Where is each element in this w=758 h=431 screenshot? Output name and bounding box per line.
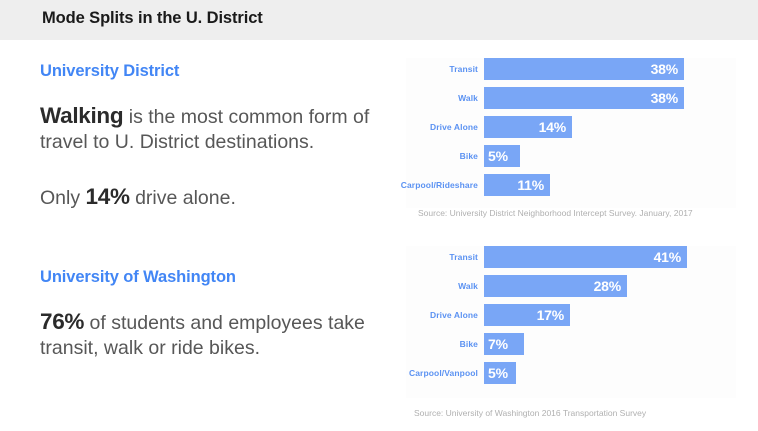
paragraph-uw-stat: 76% of students and employees take trans… bbox=[40, 307, 380, 362]
bar: 14% bbox=[484, 116, 572, 138]
left-text-column: University District Walking is the most … bbox=[40, 62, 380, 211]
bar-value-label: 38% bbox=[651, 91, 678, 105]
paragraph-uw-stat-rest: of students and employees take transit, … bbox=[40, 312, 365, 359]
chart-university-of-washington: Transit41%Walk28%Drive Alone17%Bike7%Car… bbox=[406, 246, 736, 398]
bar-category-label: Walk bbox=[406, 87, 478, 109]
paragraph-walking-lead: Walking bbox=[40, 103, 123, 128]
bar-track: 41% bbox=[484, 246, 736, 268]
bar-value-label: 17% bbox=[537, 308, 564, 322]
paragraph-uw-stat-lead: 76% bbox=[40, 309, 84, 334]
bar-track: 38% bbox=[484, 58, 736, 80]
bar-track: 11% bbox=[484, 174, 736, 196]
paragraph-drive-alone-suffix: drive alone. bbox=[130, 187, 236, 209]
bar: 5% bbox=[484, 362, 516, 384]
bar-track: 5% bbox=[484, 145, 736, 167]
section-university-district: University District Walking is the most … bbox=[40, 62, 380, 211]
bar-row: Drive Alone17% bbox=[406, 304, 736, 326]
bar-row: Drive Alone14% bbox=[406, 116, 736, 138]
bar-value-label: 41% bbox=[654, 250, 681, 264]
bar-row: Transit38% bbox=[406, 58, 736, 80]
section-heading-university-of-washington: University of Washington bbox=[40, 268, 380, 287]
bar-category-label: Walk bbox=[406, 275, 478, 297]
bar-row: Walk38% bbox=[406, 87, 736, 109]
bar-track: 14% bbox=[484, 116, 736, 138]
bar-category-label: Bike bbox=[406, 145, 478, 167]
bar: 38% bbox=[484, 58, 684, 80]
bar: 17% bbox=[484, 304, 570, 326]
section-university-of-washington: University of Washington 76% of students… bbox=[40, 268, 380, 362]
bar: 5% bbox=[484, 145, 520, 167]
bar: 38% bbox=[484, 87, 684, 109]
bar-category-label: Bike bbox=[406, 333, 478, 355]
bar-category-label: Drive Alone bbox=[406, 304, 478, 326]
chart-university-district: Transit38%Walk38%Drive Alone14%Bike5%Car… bbox=[406, 58, 736, 208]
bar-track: 17% bbox=[484, 304, 736, 326]
page-title: Mode Splits in the U. District bbox=[42, 9, 263, 28]
bar-category-label: Transit bbox=[406, 58, 478, 80]
paragraph-walking: Walking is the most common form of trave… bbox=[40, 101, 380, 156]
section-heading-university-district: University District bbox=[40, 62, 380, 81]
bar-value-label: 7% bbox=[488, 337, 508, 351]
paragraph-drive-alone-prefix: Only bbox=[40, 187, 86, 209]
bar-track: 28% bbox=[484, 275, 736, 297]
bar-value-label: 14% bbox=[539, 120, 566, 134]
bar: 11% bbox=[484, 174, 550, 196]
bar-value-label: 11% bbox=[517, 178, 544, 192]
bar-row: Carpool/Rideshare11% bbox=[406, 174, 736, 196]
chart-source-university-district: Source: University District Neighborhood… bbox=[418, 208, 693, 218]
bar-row: Carpool/Vanpool5% bbox=[406, 362, 736, 384]
bar-category-label: Carpool/Rideshare bbox=[406, 174, 478, 196]
slide: Mode Splits in the U. District Universit… bbox=[0, 0, 758, 431]
bar-category-label: Carpool/Vanpool bbox=[406, 362, 478, 384]
bar-value-label: 5% bbox=[488, 149, 508, 163]
paragraph-drive-alone-value: 14% bbox=[86, 184, 130, 209]
bar-row: Walk28% bbox=[406, 275, 736, 297]
bar-row: Bike5% bbox=[406, 145, 736, 167]
bar-value-label: 5% bbox=[488, 366, 508, 380]
bar-track: 5% bbox=[484, 362, 736, 384]
bar: 7% bbox=[484, 333, 524, 355]
bar-value-label: 28% bbox=[594, 279, 621, 293]
paragraph-drive-alone: Only 14% drive alone. bbox=[40, 182, 380, 211]
bar: 41% bbox=[484, 246, 687, 268]
chart-source-university-of-washington: Source: University of Washington 2016 Tr… bbox=[414, 408, 646, 418]
bar-category-label: Drive Alone bbox=[406, 116, 478, 138]
bar-category-label: Transit bbox=[406, 246, 478, 268]
bar-row: Bike7% bbox=[406, 333, 736, 355]
bar-track: 38% bbox=[484, 87, 736, 109]
bar-value-label: 38% bbox=[651, 62, 678, 76]
bar-row: Transit41% bbox=[406, 246, 736, 268]
bar: 28% bbox=[484, 275, 627, 297]
header-band: Mode Splits in the U. District bbox=[0, 0, 758, 40]
bar-track: 7% bbox=[484, 333, 736, 355]
